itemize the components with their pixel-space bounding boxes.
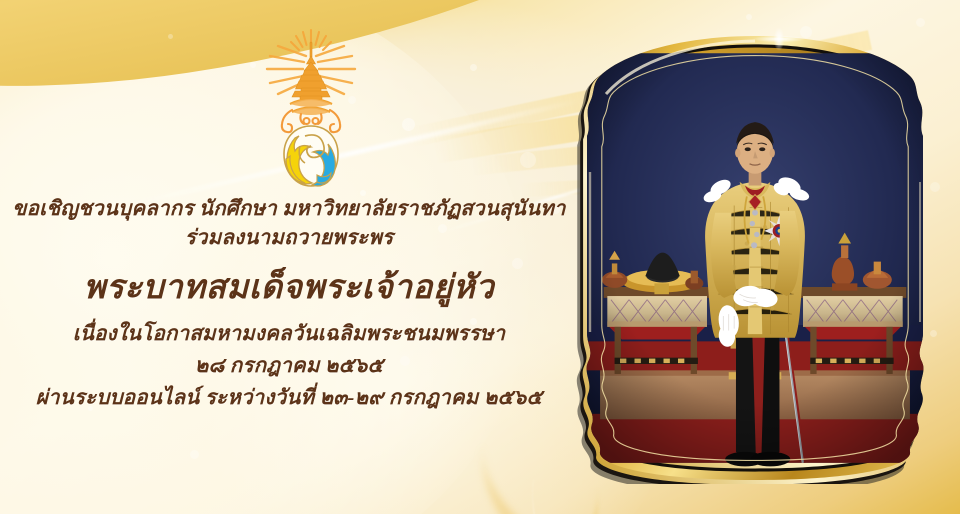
royal-title: พระบาทสมเด็จพระเจ้าอยู่หัว xyxy=(0,266,578,310)
occasion-line: เนื่องในโอกาสมหามงคลวันเฉลิมพระชนมพรรษา xyxy=(0,320,578,348)
invitation-line-1: ขอเชิญชวนบุคลากร นักศึกษา มหาวิทยาลัยราช… xyxy=(0,196,578,223)
royal-blessing-banner: ขอเชิญชวนบุคลากร นักศึกษา มหาวิทยาลัยราช… xyxy=(0,0,960,514)
king-portrait-frame xyxy=(566,32,944,484)
online-period: ผ่านระบบออนไลน์ ระหว่างวันที่ ๒๓-๒๙ กรกฎ… xyxy=(0,384,578,412)
royal-cypher-emblem xyxy=(248,26,374,196)
invitation-text-block: ขอเชิญชวนบุคลากร นักศึกษา มหาวิทยาลัยราช… xyxy=(0,196,578,412)
sparkle-icon xyxy=(742,22,816,56)
invitation-line-2: ร่วมลงนามถวายพระพร xyxy=(0,225,578,252)
event-date: ๒๘ กรกฎาคม ๒๕๖๕ xyxy=(0,352,578,380)
